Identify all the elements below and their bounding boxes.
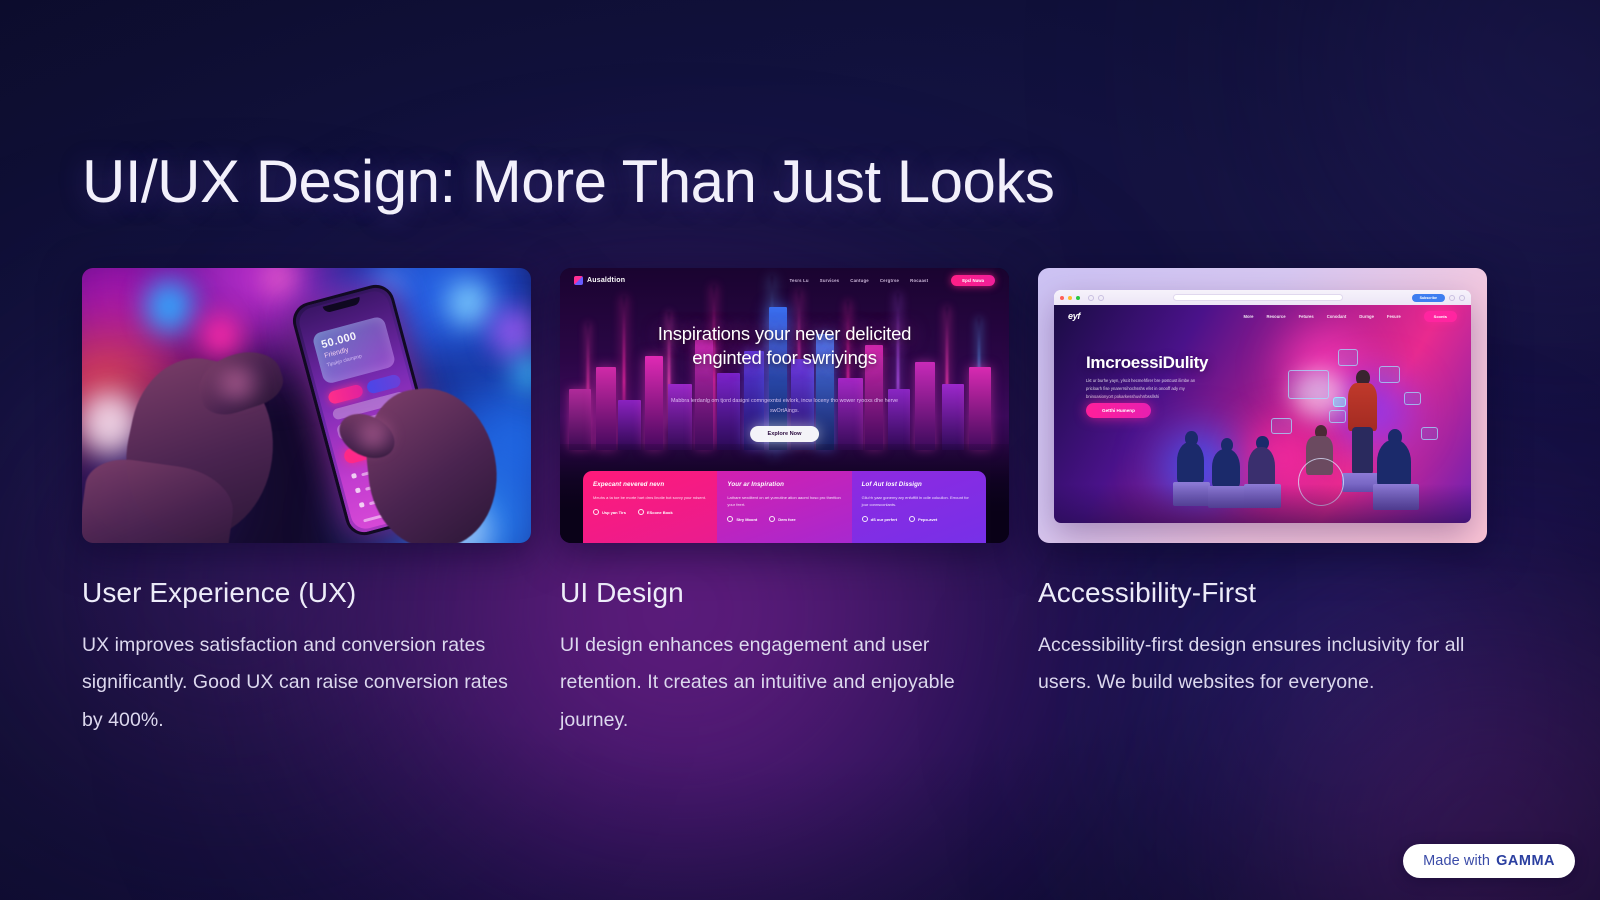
browser-extension-icon[interactable] <box>1449 295 1455 301</box>
page-subtext: Lkt ur burhe yayn, ylscit hecmehfirer br… <box>1086 377 1211 402</box>
person-standing-legs <box>1352 427 1373 475</box>
nav-link[interactable]: Fetures <box>1299 314 1314 319</box>
person-seated <box>1212 449 1239 488</box>
page-navbar: eyf More Resource Fetures Conodant Durng… <box>1054 305 1471 327</box>
nav-cta-button[interactable]: Epcl Nuwa <box>951 275 995 286</box>
feature-card-ux: 50.000 Friendly Tipskjn clampnp <box>82 268 531 739</box>
browser-subscribe-button[interactable]: Subscribe <box>1412 294 1445 302</box>
nav-link[interactable]: Durnge <box>1359 314 1374 319</box>
page-nav-links: More Resource Fetures Conodant Durnge Fe… <box>1243 311 1457 322</box>
browser-back-icon[interactable] <box>1088 295 1094 301</box>
image-browser-inclusive: Subscribe eyf <box>1038 268 1487 543</box>
feature-card-links: Usp yan Tirs EScone Book <box>593 509 707 515</box>
card-title: User Experience (UX) <box>82 576 531 610</box>
phone-notch <box>323 297 362 314</box>
mockup-headline: Inspirations your never delicited engint… <box>560 322 1009 371</box>
feature-card-link[interactable]: Dem fore <box>769 516 795 522</box>
nav-link[interactable]: Cantuge <box>850 278 869 283</box>
browser-toolbar: Subscribe <box>1054 290 1471 305</box>
card-title: UI Design <box>560 576 1009 610</box>
mockup-feature-cards: Expecant nevered nevn Meuhs a ta toe be … <box>583 471 986 543</box>
logo-mark-icon <box>574 276 583 285</box>
feature-card-ui: Ausaldtion Tesrs Lu Survices Cantuge Cer… <box>560 268 1009 739</box>
nav-link[interactable]: Fesure <box>1387 314 1401 319</box>
card-body: Accessibility-first design ensures inclu… <box>1038 627 1470 702</box>
mockup-feature-card[interactable]: Your ar Inspiration Lathare sexditent on… <box>717 471 851 543</box>
page-logo: eyf <box>1068 311 1080 321</box>
feature-card-link[interactable]: Stry Moont <box>727 516 757 522</box>
headline-line-2: enginted foor swriyings <box>692 347 877 368</box>
headline-line-1: Inspirations your never delicited <box>658 323 912 344</box>
mockup-navbar: Ausaldtion Tesrs Lu Survices Cantuge Cer… <box>560 268 1009 292</box>
page-cta-button[interactable]: Getthi Humenp <box>1086 403 1151 418</box>
held-phone <box>1333 397 1346 408</box>
mockup-nav-links: Tesrs Lu Survices Cantuge Cergtrse Rocaa… <box>790 275 995 286</box>
bullet-icon <box>593 509 599 515</box>
feature-card-title: Lof Aut lost Dissign <box>862 481 976 488</box>
mockup-explore-button[interactable]: Explore Now <box>750 426 820 442</box>
nav-link[interactable]: Cergtrse <box>880 278 899 283</box>
nav-link[interactable]: Rocaast <box>910 278 928 283</box>
browser-window: Subscribe eyf <box>1054 290 1471 523</box>
card-image-accessibility: Subscribe eyf <box>1038 268 1487 543</box>
feature-card-link[interactable]: Usp yan Tirs <box>593 509 626 515</box>
nav-link[interactable]: Conodant <box>1327 314 1347 319</box>
bullet-icon <box>862 516 868 522</box>
badge-brand: GAMMA <box>1496 853 1555 869</box>
card-body: UI design enhances engagement and user r… <box>560 627 992 740</box>
made-with-gamma-badge[interactable]: Made with GAMMA <box>1403 844 1575 878</box>
phone-balance-card: 50.000 Friendly Tipskjn clampnp <box>311 315 396 384</box>
nav-link[interactable]: Survices <box>820 278 840 283</box>
nav-cta-button[interactable]: Sconts <box>1424 311 1457 322</box>
logo-text: Ausaldtion <box>587 277 625 284</box>
feature-card-links: Stry Moont Dem fore <box>727 516 841 522</box>
mockup-logo: Ausaldtion <box>574 276 625 285</box>
browser-forward-icon[interactable] <box>1098 295 1104 301</box>
window-minimize-icon[interactable] <box>1068 296 1072 300</box>
mockup-feature-card[interactable]: Expecant nevered nevn Meuhs a ta toe be … <box>583 471 717 543</box>
badge-prefix: Made with <box>1423 853 1490 869</box>
image-hands-phone: 50.000 Friendly Tipskjn clampnp <box>82 268 531 543</box>
bullet-icon <box>638 509 644 515</box>
person-seated <box>1177 442 1204 483</box>
image-neon-city-landing: Ausaldtion Tesrs Lu Survices Cantuge Cer… <box>560 268 1009 543</box>
page-headline: ImcroessiDulity <box>1086 353 1208 373</box>
nav-link[interactable]: Tesrs Lu <box>790 278 809 283</box>
feature-card-accessibility: Subscribe eyf <box>1038 268 1487 739</box>
card-title: Accessibility-First <box>1038 576 1487 610</box>
bullet-icon <box>769 516 775 522</box>
card-body: UX improves satisfaction and conversion … <box>82 627 514 740</box>
card-image-ui: Ausaldtion Tesrs Lu Survices Cantuge Cer… <box>560 268 1009 543</box>
bullet-icon <box>909 516 915 522</box>
bullet-icon <box>727 516 733 522</box>
browser-address-bar[interactable] <box>1173 294 1343 301</box>
page-title: UI/UX Design: More Than Just Looks <box>82 148 1054 215</box>
browser-profile-icon[interactable] <box>1459 295 1465 301</box>
mockup-subtext: Mabbra lerdanlg om tjord dasigni comngex… <box>668 396 902 416</box>
feature-card-body: Lathare sexditent on art yurnutine ation… <box>727 494 841 508</box>
person-standing <box>1348 383 1377 431</box>
feature-card-links: dS our perfert Pepo-avet <box>862 516 976 522</box>
browser-page-hero: eyf More Resource Fetures Conodant Durng… <box>1054 305 1471 523</box>
feature-card-body: Gliu'rh yaar gonemy ary enfufflit in odl… <box>862 494 976 508</box>
window-maximize-icon[interactable] <box>1076 296 1080 300</box>
window-close-icon[interactable] <box>1060 296 1064 300</box>
feature-card-title: Your ar Inspiration <box>727 481 841 488</box>
feature-card-row: 50.000 Friendly Tipskjn clampnp <box>82 268 1488 739</box>
feature-card-title: Expecant nevered nevn <box>593 481 707 488</box>
feature-card-body: Meuhs a ta toe be morte hart drns linoti… <box>593 494 707 501</box>
feature-card-link[interactable]: EScone Book <box>638 509 673 515</box>
nav-link[interactable]: More <box>1243 314 1253 319</box>
feature-card-link[interactable]: dS our perfert <box>862 516 897 522</box>
card-image-ux: 50.000 Friendly Tipskjn clampnp <box>82 268 531 543</box>
person-seated <box>1248 447 1275 488</box>
feature-card-link[interactable]: Pepo-avet <box>909 516 937 522</box>
person-seated-right <box>1377 440 1410 488</box>
mockup-feature-card[interactable]: Lof Aut lost Dissign Gliu'rh yaar gonemy… <box>852 471 986 543</box>
nav-link[interactable]: Resource <box>1266 314 1285 319</box>
slide-content: UI/UX Design: More Than Just Looks <box>0 0 1600 900</box>
